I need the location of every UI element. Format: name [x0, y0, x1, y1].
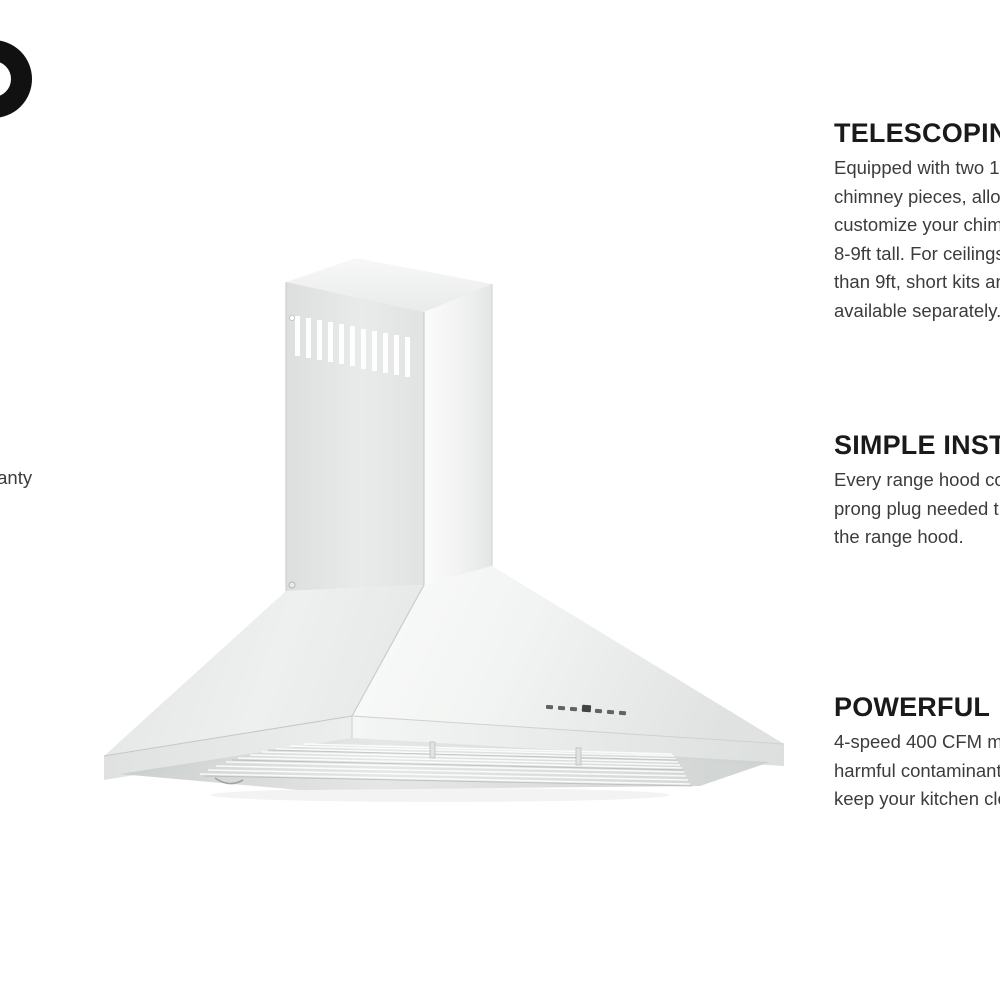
feature-installation-body: Every range hood co prong plug needed t … — [834, 466, 1000, 552]
feature-telescoping-heading: TELESCOPIN — [834, 118, 1000, 148]
feature-line: 8-9ft tall. For ceilings — [834, 240, 1000, 269]
infographic-canvas: TELESCOPIN Equipped with two 1 chimney p… — [0, 0, 1000, 1000]
feature-line: Every range hood co — [834, 466, 1000, 495]
feature-powerful: POWERFUL 4-speed 400 CFM m harmful conta… — [834, 692, 1000, 814]
feature-telescoping-body: Equipped with two 1 chimney pieces, allo… — [834, 154, 1000, 325]
feature-line: than 9ft, short kits an — [834, 268, 1000, 297]
feature-line: a lifetime warranty — [0, 464, 32, 493]
filter-divider — [430, 742, 435, 758]
feature-powerful-body: 4-speed 400 CFM m harmful contaminants k… — [834, 728, 1000, 814]
feature-warranty: RANTY a lifetime warranty nd motor. — [0, 428, 32, 521]
feature-line: prong plug needed t — [834, 495, 1000, 524]
feature-line: the range hood. — [834, 523, 1000, 552]
filter-divider — [576, 748, 581, 765]
feature-line: nd motor. — [0, 493, 32, 522]
feature-powerful-heading: POWERFUL — [834, 692, 1000, 722]
feature-installation-heading: SIMPLE INST — [834, 430, 1000, 460]
feature-line: 4-speed 400 CFM m — [834, 728, 1000, 757]
feature-line: Equipped with two 1 — [834, 154, 1000, 183]
feature-line: keep your kitchen cle — [834, 785, 1000, 814]
feature-line: available separately. — [834, 297, 1000, 326]
feature-line: chimney pieces, allow — [834, 183, 1000, 212]
feature-warranty-body: a lifetime warranty nd motor. — [0, 464, 32, 521]
feature-line: harmful contaminants — [834, 757, 1000, 786]
feature-telescoping: TELESCOPIN Equipped with two 1 chimney p… — [834, 118, 1000, 325]
feature-warranty-heading: RANTY — [0, 428, 32, 458]
feature-line: customize your chimn — [834, 211, 1000, 240]
feature-simple-installation: SIMPLE INST Every range hood co prong pl… — [834, 430, 1000, 552]
